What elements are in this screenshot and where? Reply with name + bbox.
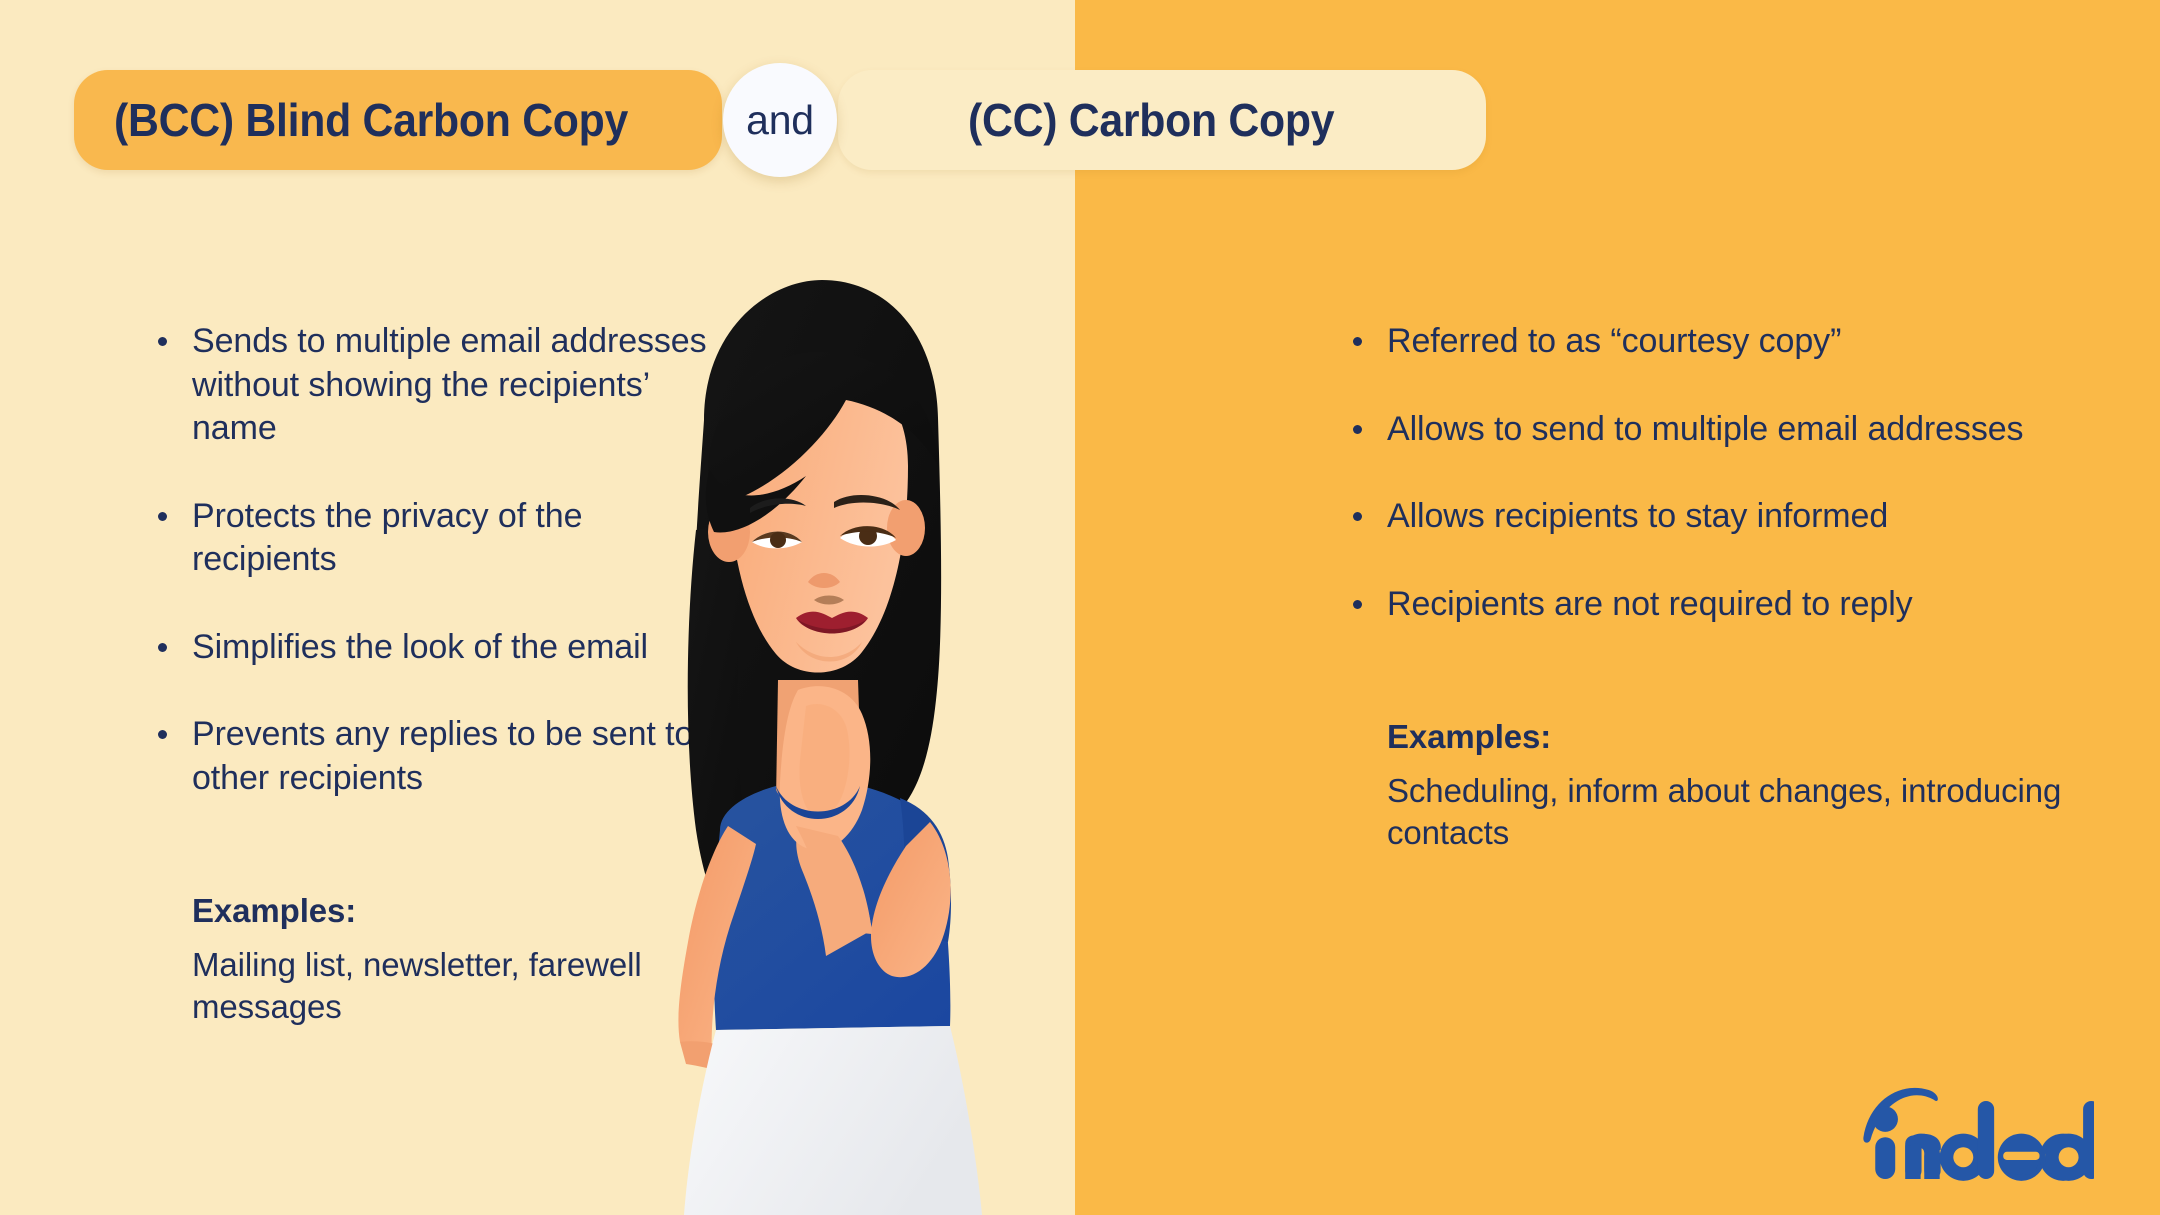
cc-bullet-list: Referred to as “courtesy copy” Allows to… bbox=[1345, 320, 2065, 626]
header-title-cc: (CC) Carbon Copy bbox=[968, 93, 1334, 147]
indeed-logo bbox=[1858, 1075, 2094, 1185]
header-pill-bcc: (BCC) Blind Carbon Copy bbox=[74, 70, 722, 170]
cc-examples-block: Examples: Scheduling, inform about chang… bbox=[1345, 718, 2065, 854]
cc-content-column: Referred to as “courtesy copy” Allows to… bbox=[1345, 320, 2065, 855]
infographic-canvas: (BCC) Blind Carbon Copy (CC) Carbon Copy… bbox=[0, 0, 2160, 1215]
list-item: Allows recipients to stay informed bbox=[1345, 495, 2065, 539]
list-item: Allows to send to multiple email address… bbox=[1345, 408, 2065, 452]
list-item: Referred to as “courtesy copy” bbox=[1345, 320, 2065, 364]
header-title-bcc: (BCC) Blind Carbon Copy bbox=[114, 93, 628, 147]
header-pill-cc: (CC) Carbon Copy bbox=[838, 70, 1486, 170]
connector-label: and bbox=[746, 97, 814, 144]
cc-examples-text: Scheduling, inform about changes, introd… bbox=[1387, 770, 2065, 854]
connector-badge-and: and bbox=[723, 63, 837, 177]
woman-thinking-illustration bbox=[600, 270, 1020, 1215]
cc-examples-label: Examples: bbox=[1387, 718, 2065, 756]
list-item: Recipients are not required to reply bbox=[1345, 583, 2065, 627]
